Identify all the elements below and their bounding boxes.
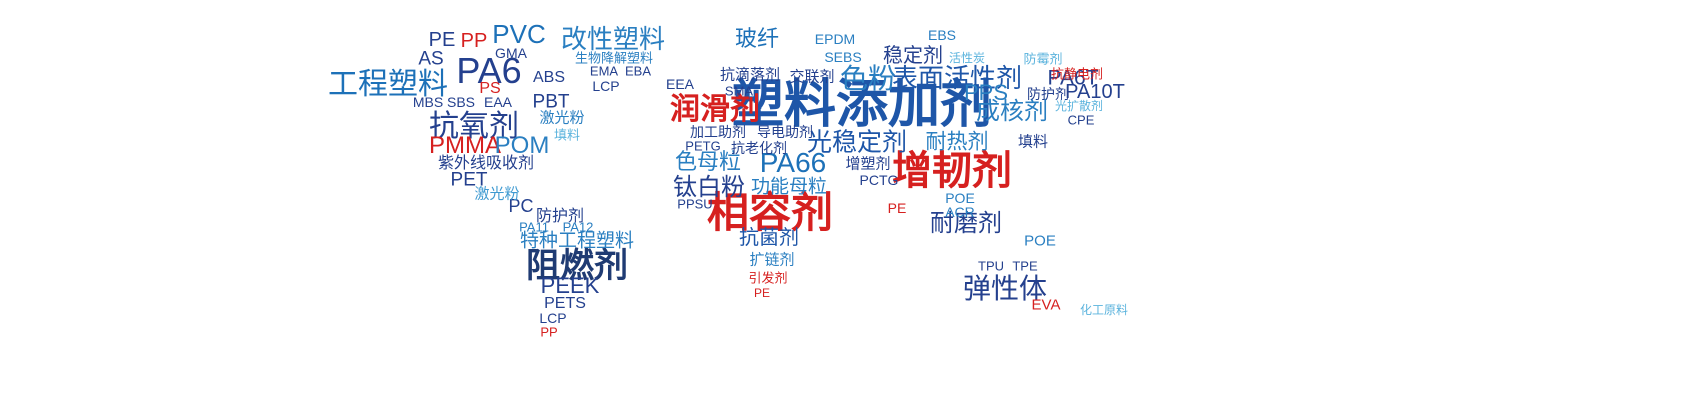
wordcloud-word[interactable]: PE — [429, 30, 456, 50]
wordcloud-word[interactable]: MBS — [413, 95, 443, 109]
wordcloud-word[interactable]: EVA — [1032, 298, 1061, 313]
wordcloud-word[interactable]: 色粉 — [840, 65, 896, 93]
wordcloud-word[interactable]: 增韧剂 — [892, 151, 1012, 191]
wordcloud-word[interactable]: PE — [754, 287, 770, 299]
wordcloud-word[interactable]: PP — [461, 31, 488, 51]
wordcloud-word[interactable]: 抗老化剂 — [731, 141, 787, 155]
wordcloud-word[interactable]: 激光粉 — [539, 111, 584, 126]
wordcloud-word[interactable]: 填料 — [1018, 135, 1048, 150]
wordcloud-word[interactable]: 加工助剂 — [690, 125, 746, 139]
wordcloud-word[interactable]: SMA — [725, 85, 753, 98]
wordcloud-word[interactable]: 激光粉 — [474, 187, 519, 202]
wordcloud-word[interactable]: PPSU — [677, 198, 712, 211]
wordcloud-word[interactable]: GMA — [495, 46, 527, 60]
wordcloud-word[interactable]: ACR — [945, 205, 975, 219]
wordcloud-word[interactable]: SEBS — [824, 50, 861, 64]
wordcloud-word[interactable]: 抗滴落剂 — [720, 68, 780, 83]
wordcloud-word[interactable]: PEEK — [541, 275, 600, 297]
wordcloud-word[interactable]: 引发剂 — [748, 272, 787, 285]
wordcloud-word[interactable]: EBS — [928, 28, 956, 42]
wordcloud-word[interactable]: 增塑剂 — [845, 157, 890, 172]
wordcloud-word[interactable]: AS — [418, 50, 443, 69]
wordcloud-word[interactable]: TPU — [978, 260, 1004, 273]
wordcloud-word[interactable]: POE — [945, 191, 975, 205]
wordcloud-word[interactable]: EAA — [484, 95, 512, 109]
wordcloud-word[interactable]: CPE — [1068, 114, 1095, 127]
wordcloud-word[interactable]: PP — [540, 326, 557, 339]
wordcloud-word[interactable]: PA12 — [563, 221, 594, 234]
wordcloud-word[interactable]: 扩链剂 — [749, 253, 794, 268]
wordcloud-word[interactable]: EPDM — [815, 32, 855, 46]
wordcloud-word[interactable]: 填料 — [554, 129, 580, 142]
wordcloud-word[interactable]: 交联剂 — [789, 70, 834, 85]
wordcloud-word[interactable]: 防霉剂 — [1023, 53, 1062, 66]
wordcloud-word[interactable]: PCTG — [860, 173, 899, 187]
wordcloud-word[interactable]: 润滑剂 — [670, 95, 760, 125]
wordcloud-word[interactable]: 化工原料 — [1080, 304, 1128, 316]
wordcloud-word[interactable]: LCP — [539, 311, 566, 325]
wordcloud-word[interactable]: EEA — [666, 77, 694, 91]
wordcloud-word[interactable]: POE — [1024, 234, 1056, 249]
wordcloud-word[interactable]: 改性塑料 — [561, 26, 665, 52]
wordcloud-word[interactable]: 功能母粒 — [751, 178, 827, 197]
wordcloud-word[interactable]: 导电助剂 — [757, 125, 813, 139]
wordcloud-word[interactable]: EBA — [625, 65, 651, 78]
wordcloud-word[interactable]: 玻纤 — [735, 28, 779, 50]
wordcloud-word[interactable]: 活性炭 — [949, 52, 985, 64]
wordcloud-word[interactable]: SBS — [447, 95, 475, 109]
wordcloud-word[interactable]: TPE — [1012, 260, 1037, 273]
wordcloud-word[interactable]: ABS — [533, 70, 565, 86]
wordcloud-word[interactable]: LCP — [592, 79, 619, 93]
wordcloud-canvas: 塑料添加剂相容剂增韧剂阻燃剂润滑剂工程塑料PA6抗氧剂表面活性剂色粉改性塑料光稳… — [0, 0, 1707, 400]
wordcloud-word[interactable]: 耐热剂 — [926, 132, 989, 153]
wordcloud-word[interactable]: PETG — [685, 140, 720, 153]
wordcloud-word[interactable]: PE — [888, 201, 907, 215]
wordcloud-word[interactable]: EMA — [590, 65, 618, 78]
wordcloud-word[interactable]: 稳定剂 — [883, 46, 943, 66]
wordcloud-word[interactable]: 抗静电剂 — [1051, 68, 1103, 81]
wordcloud-word[interactable]: PPS — [964, 82, 1008, 104]
wordcloud-word[interactable]: 抗菌剂 — [739, 228, 799, 248]
wordcloud-word[interactable]: PVC — [492, 21, 545, 47]
wordcloud-word[interactable]: PA11 — [519, 221, 549, 234]
wordcloud-word[interactable]: 光扩散剂 — [1055, 100, 1103, 112]
